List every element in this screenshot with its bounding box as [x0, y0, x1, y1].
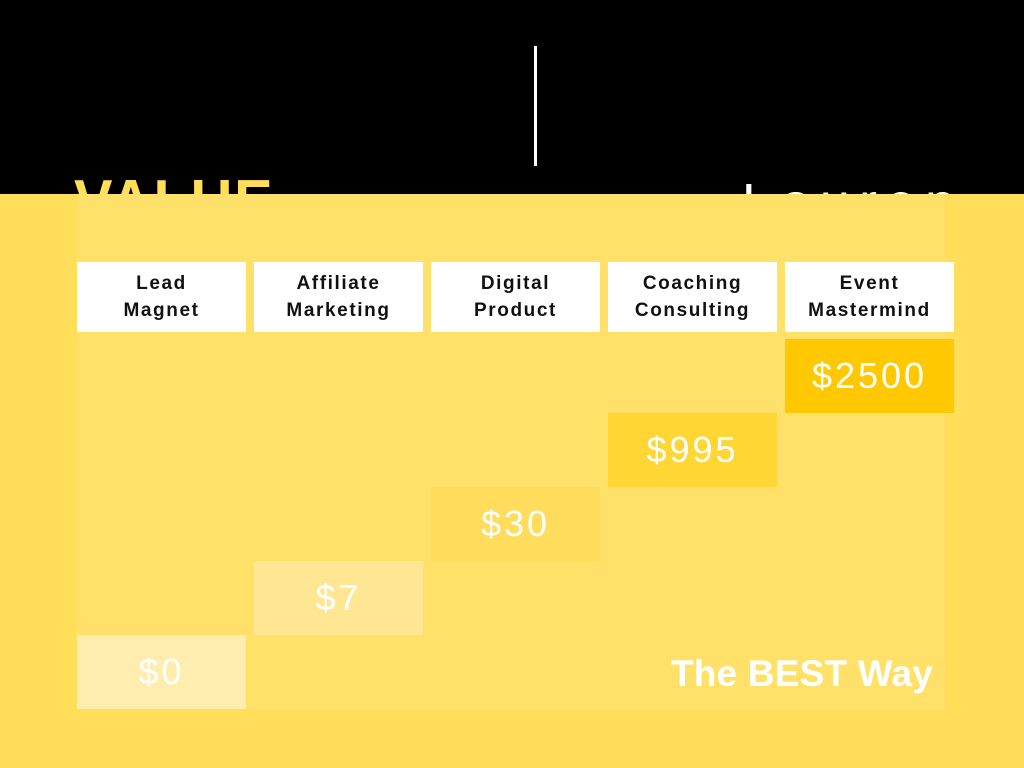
ladder-bar-3: $30 — [431, 487, 600, 561]
ladder-bar-2: $7 — [254, 561, 423, 635]
value-ladder-slide: VALUE LADDER Lauren Kinghorn LeadMagnetA… — [0, 0, 1024, 768]
ladder-bar-5: $2500 — [785, 339, 954, 413]
tagline-line-1: The BEST Way — [600, 648, 1004, 700]
value-ladder-chart: LeadMagnetAffiliateMarketingDigitalProdu… — [0, 194, 1024, 768]
ladder-bar-2-value-label: $7 — [315, 577, 361, 619]
ladder-bar-4-value-label: $995 — [646, 429, 738, 471]
ladder-bar-3-value-label: $30 — [481, 503, 550, 545]
ladder-bar-4: $995 — [608, 413, 777, 487]
ladder-bar-1: $0 — [77, 635, 246, 709]
header-divider — [534, 46, 537, 166]
tagline: The BEST Way to Make Money Online — [600, 544, 1004, 768]
ladder-bar-1-value-label: $0 — [138, 651, 184, 693]
ladder-bar-5-value-label: $2500 — [812, 355, 927, 397]
header-band: VALUE LADDER Lauren Kinghorn — [0, 0, 1024, 194]
